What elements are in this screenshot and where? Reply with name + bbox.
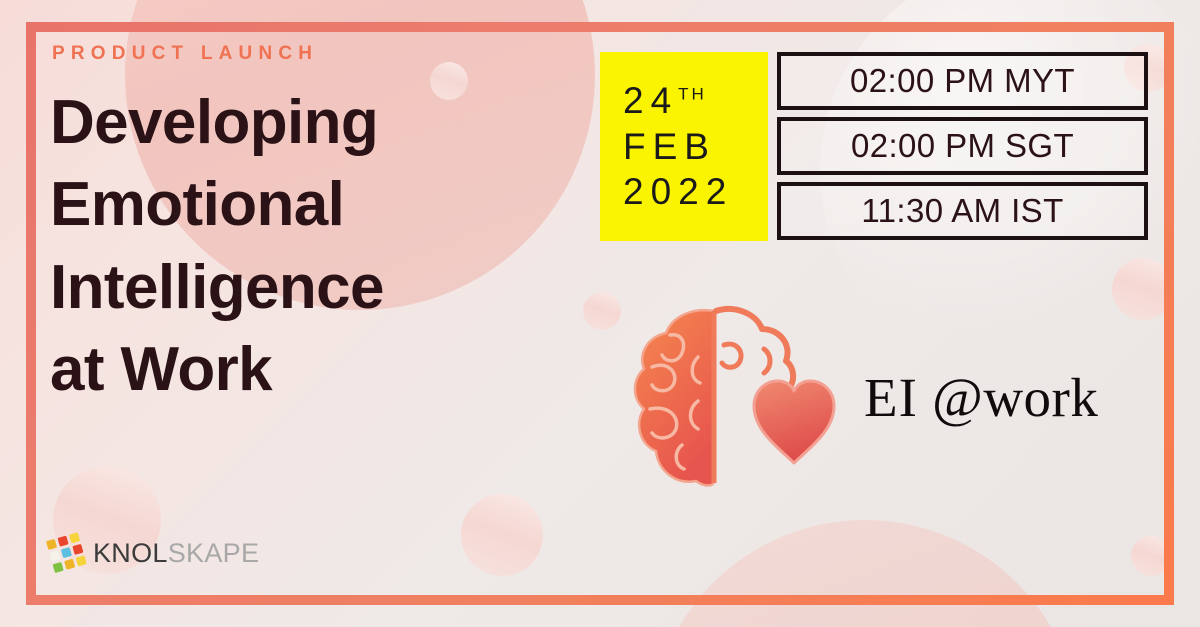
brand-lockup-ei: EI [864,367,918,428]
headline-line-4: at Work [50,329,550,411]
brand-lockup: EI @work [864,366,1098,429]
brain-heart-artwork [628,305,853,490]
promo-banner: PRODUCT LAUNCH Developing Emotional Inte… [0,0,1200,627]
eyebrow-label: PRODUCT LAUNCH [52,43,318,65]
event-datetime-block: 24TH FEB 2022 02:00 PM MYT 02:00 PM SGT … [600,52,1148,241]
knolskape-squares-icon [46,532,88,574]
decorative-bubble-3 [1112,258,1174,320]
timezone-item-sgt: 02:00 PM SGT [777,117,1148,175]
event-date-box: 24TH FEB 2022 [600,52,768,241]
heart-icon [754,381,834,463]
knolskape-wordmark: KNOLSKAPE [93,538,259,569]
date-day-suffix: TH [678,84,707,103]
headline-line-2: Emotional [50,164,550,246]
decorative-bubble-7 [1131,536,1171,576]
headline-line-3: Intelligence [50,247,550,329]
date-day-line: 24TH [623,78,707,124]
decorative-bubble-2 [583,292,621,330]
headline-line-1: Developing [50,82,550,164]
page-title: Developing Emotional Intelligence at Wor… [50,82,550,412]
timezone-list: 02:00 PM MYT 02:00 PM SGT 11:30 AM IST [777,52,1148,241]
logo-name-bold: KNOL [93,538,168,568]
decorative-blob-bottom-right [650,520,1080,627]
date-month: FEB [623,124,716,170]
date-year: 2022 [623,169,733,215]
timezone-item-ist: 11:30 AM IST [777,182,1148,240]
date-day: 24 [623,80,678,121]
brand-lockup-at-work: @work [932,367,1098,428]
decorative-bubble-6 [461,494,543,576]
knolskape-logo[interactable]: KNOLSKAPE [50,536,259,570]
timezone-item-myt: 02:00 PM MYT [777,52,1148,110]
logo-name-light: SKAPE [168,538,260,568]
